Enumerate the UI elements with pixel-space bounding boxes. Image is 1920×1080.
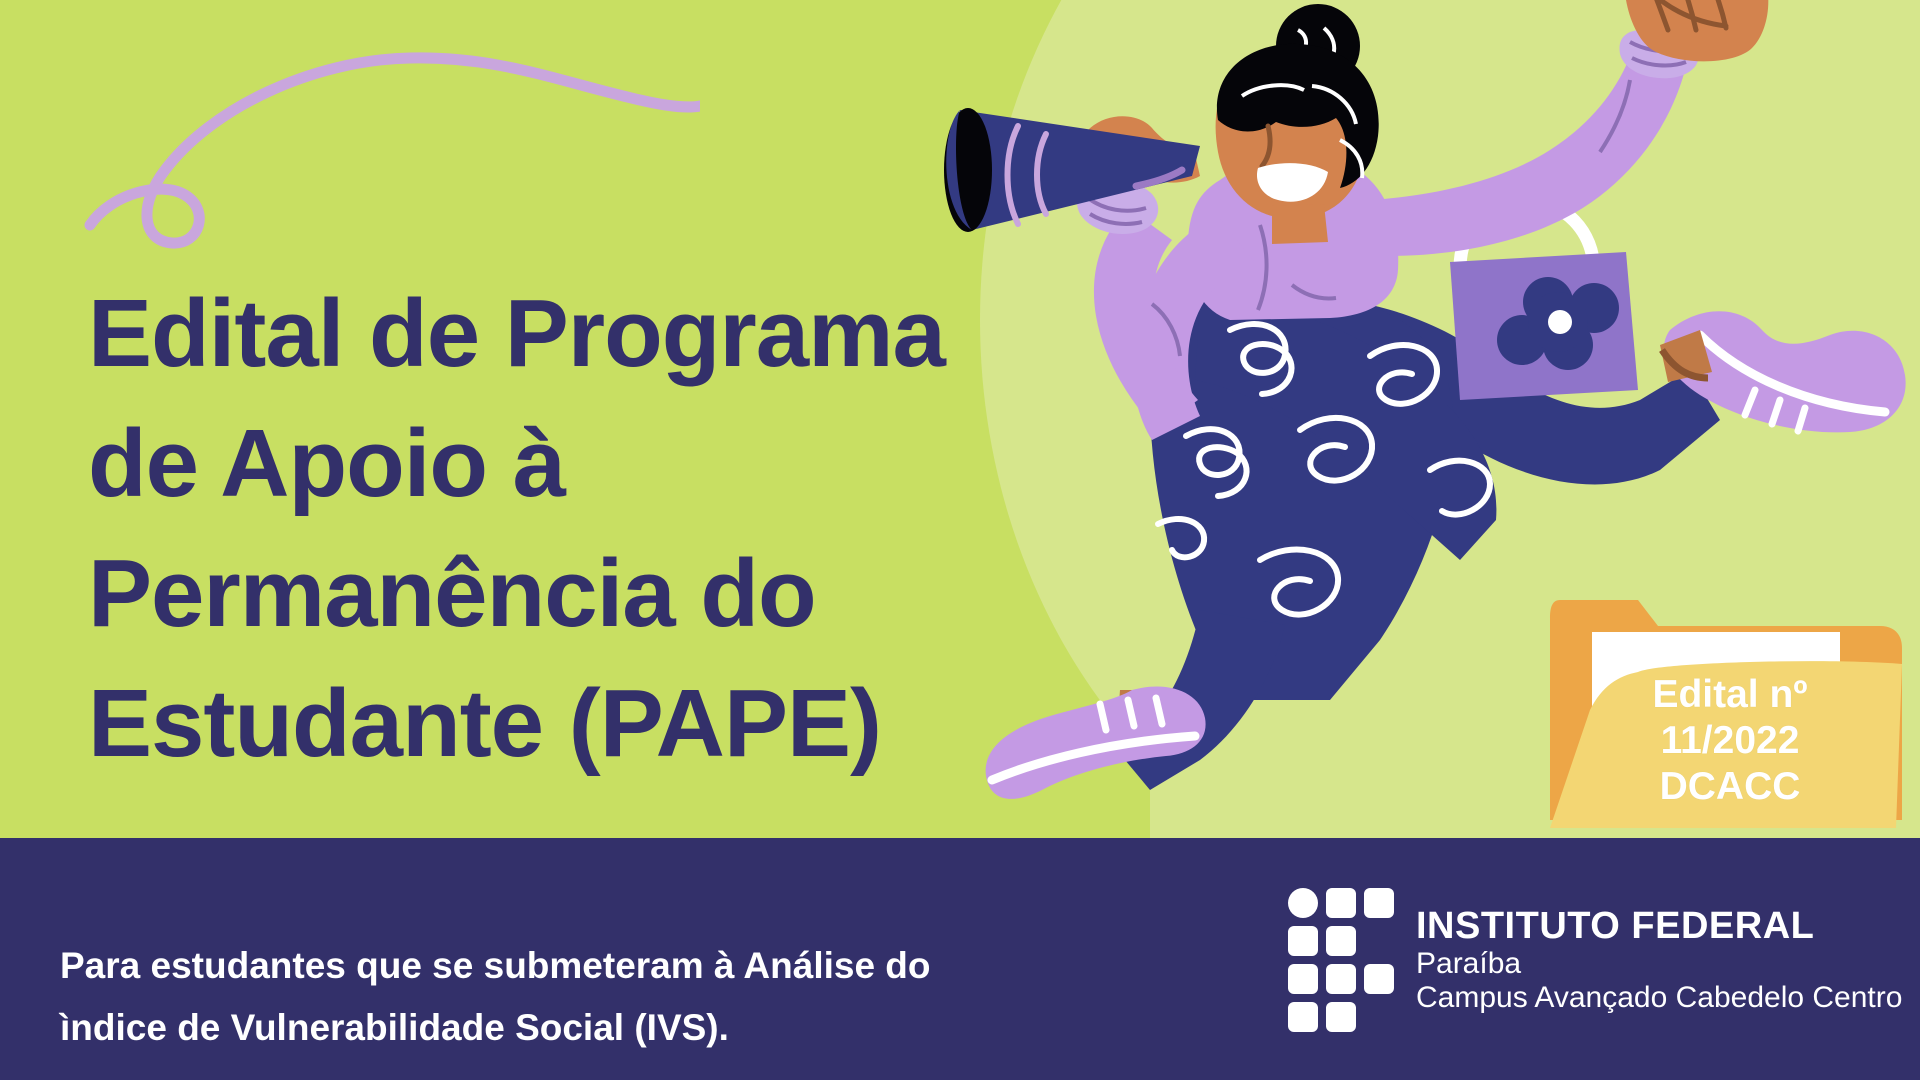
logo-state: Paraíba bbox=[1416, 947, 1902, 981]
logo-campus: Campus Avançado Cabedelo Centro bbox=[1416, 981, 1902, 1015]
logo-grid bbox=[1288, 888, 1394, 1032]
logo-institution: INSTITUTO FEDERAL bbox=[1416, 905, 1902, 947]
sneaker-icon-front bbox=[986, 686, 1206, 798]
logo-cell-r1c1 bbox=[1288, 888, 1318, 918]
logo-cell-r2c1 bbox=[1288, 926, 1318, 956]
logo-cell-r3c2 bbox=[1326, 964, 1356, 994]
logo-cell-r4c2 bbox=[1326, 1002, 1356, 1032]
instituto-federal-logo-icon: INSTITUTO FEDERAL Paraíba Campus Avançad… bbox=[1288, 888, 1902, 1032]
logo-cell-r4c1 bbox=[1288, 1002, 1318, 1032]
megaphone-icon bbox=[944, 108, 1200, 232]
logo-text-block: INSTITUTO FEDERAL Paraíba Campus Avançad… bbox=[1416, 905, 1902, 1015]
footer-subtitle: Para estudantes que se submeteram à Anál… bbox=[60, 935, 1240, 1059]
logo-cell-r2c3 bbox=[1364, 926, 1394, 956]
squiggle-line-icon bbox=[80, 10, 700, 250]
logo-cell-r1c3 bbox=[1364, 888, 1394, 918]
logo-cell-r2c2 bbox=[1326, 926, 1356, 956]
edital-badge-label: Edital nº 11/2022 DCACC bbox=[1600, 672, 1860, 810]
logo-cell-r4c3 bbox=[1364, 1002, 1394, 1032]
logo-cell-r3c3 bbox=[1364, 964, 1394, 994]
logo-cell-r1c2 bbox=[1326, 888, 1356, 918]
poster-canvas: Edital de Programa de Apoio à Permanênci… bbox=[0, 0, 1920, 1080]
logo-cell-r3c1 bbox=[1288, 964, 1318, 994]
